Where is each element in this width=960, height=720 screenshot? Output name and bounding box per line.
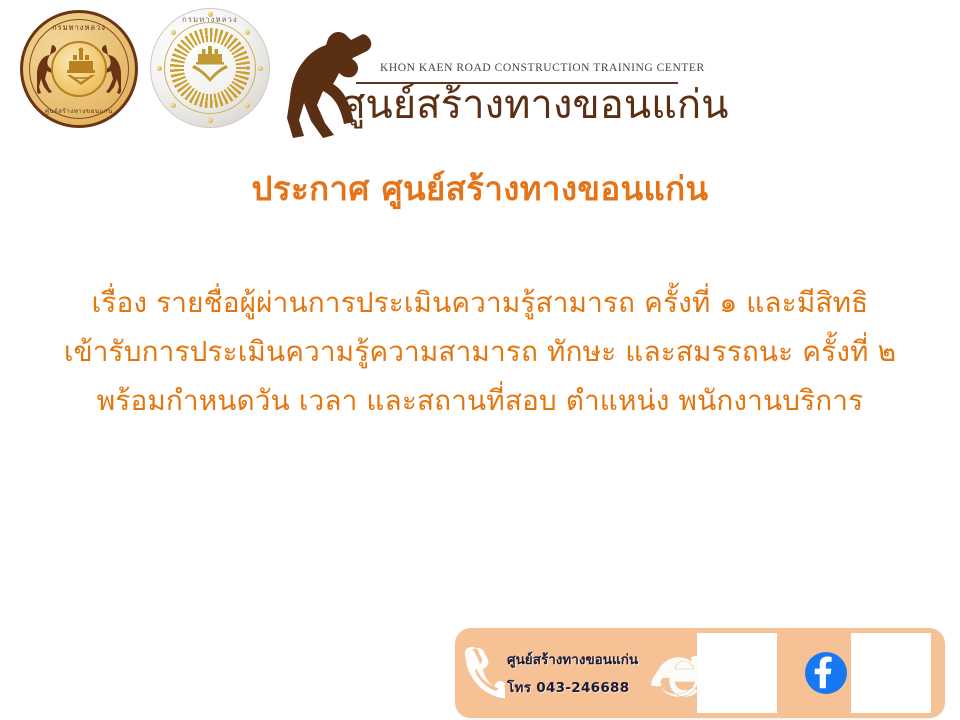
contact-footer-bar: ศูนย์สร้างทางขอนแก่น โทร 043-246688 — [455, 628, 945, 718]
seal-silver-stud — [171, 30, 176, 35]
seal-silver-stud — [258, 66, 263, 71]
seal-gold-top-text: กรมทางหลวง — [20, 24, 138, 32]
header-band: กรมทางหลวง ศูนย์สร้างทางขอนแก่น — [0, 0, 960, 155]
facebook-icon[interactable] — [803, 650, 849, 696]
seal-silver-highways-emblem: กรมทางหลวง — [150, 8, 270, 128]
announcement-line-1: เรื่อง รายชื่อผู้ผ่านการประเมินความรู้สา… — [0, 278, 960, 327]
organization-logo: KHON KAEN ROAD CONSTRUCTION TRAINING CEN… — [270, 24, 690, 144]
qr-grid-website — [699, 635, 775, 711]
logo-thai-name: ศูนย์สร้างทางขอนแก่น — [340, 82, 685, 128]
seal-silver-stud — [171, 103, 176, 108]
qr-grid-facebook — [853, 635, 929, 711]
seal-silver-stud — [208, 118, 213, 123]
announcement-line-3: พร้อมกำหนดวัน เวลา และสถานที่สอบ ตำแหน่ง… — [0, 376, 960, 425]
highways-crest-icon — [53, 43, 109, 99]
announcement-body: เรื่อง รายชื่อผู้ผ่านการประเมินความรู้สา… — [0, 278, 960, 425]
seal-gold-bottom-text: ศูนย์สร้างทางขอนแก่น — [20, 109, 138, 115]
seal-gold-center-crest — [51, 41, 107, 97]
internet-explorer-icon[interactable] — [651, 648, 703, 698]
seal-gold-highways-emblem: กรมทางหลวง ศูนย์สร้างทางขอนแก่น — [20, 10, 138, 128]
seal-silver-stud — [208, 12, 213, 17]
seal-silver-stud — [245, 30, 250, 35]
seal-silver-stud — [245, 103, 250, 108]
seal-silver-stud — [157, 66, 162, 71]
phone-icon[interactable] — [465, 646, 505, 698]
page-title: ประกาศ ศูนย์สร้างทางขอนแก่น — [0, 168, 960, 209]
logo-english-name: KHON KAEN ROAD CONSTRUCTION TRAINING CEN… — [380, 62, 680, 74]
facebook-qr-code[interactable] — [851, 633, 931, 713]
seal-silver-top-text: กรมทางหลวง — [150, 16, 270, 24]
announcement-line-2: เข้ารับการประเมินความรู้ความสามารถ ทักษะ… — [0, 327, 960, 376]
highways-crest-silver-icon — [184, 46, 236, 90]
website-qr-code[interactable] — [697, 633, 777, 713]
